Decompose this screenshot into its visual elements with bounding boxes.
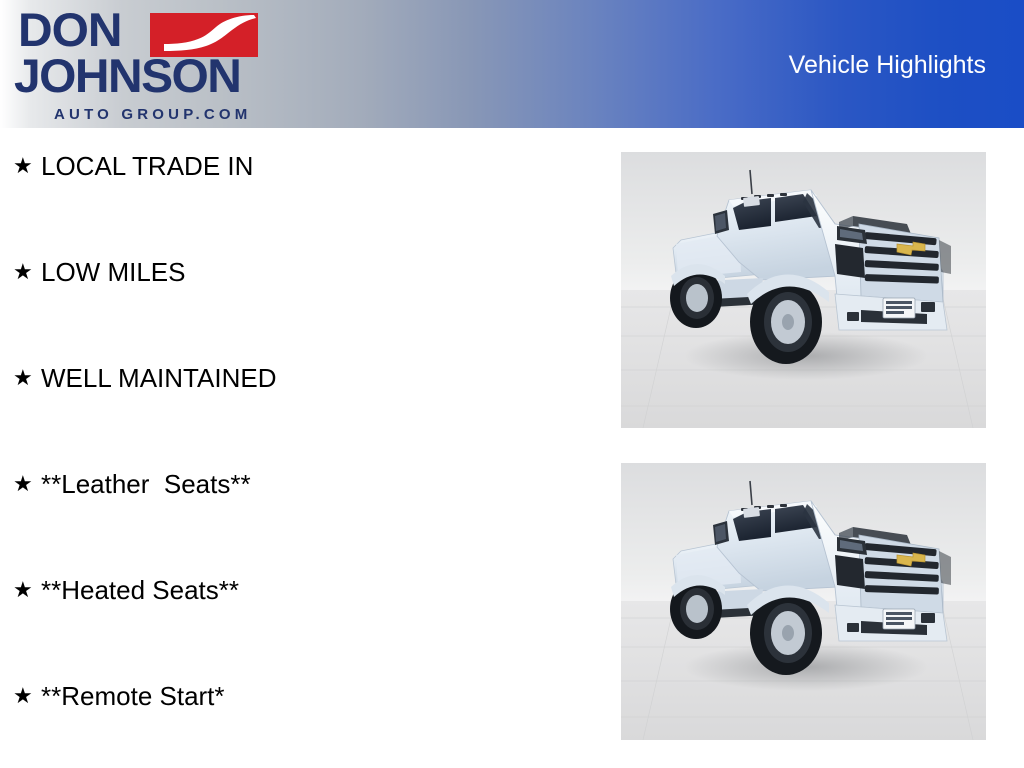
star-bullet-icon: ★ xyxy=(13,362,41,394)
highlight-label: **Heated Seats** xyxy=(41,574,239,606)
dealer-logo[interactable]: DON JOHNSON AUTO GROUP.COM xyxy=(10,4,260,126)
list-item: ★ WELL MAINTAINED xyxy=(0,362,600,468)
star-bullet-icon: ★ xyxy=(13,574,41,606)
star-bullet-icon: ★ xyxy=(13,680,41,712)
logo-line-don: DON xyxy=(18,6,121,53)
star-bullet-icon: ★ xyxy=(13,468,41,500)
highlight-label: **Remote Start* xyxy=(41,680,225,712)
list-item: ★ LOW MILES xyxy=(0,256,600,362)
highlight-label: LOCAL TRADE IN xyxy=(41,150,253,182)
star-bullet-icon: ★ xyxy=(13,150,41,182)
truck-illustration xyxy=(621,152,986,428)
highlight-label: WELL MAINTAINED xyxy=(41,362,276,394)
vehicle-photo-front-three-quarter[interactable] xyxy=(621,152,986,428)
list-item: ★ **Leather Seats** xyxy=(0,468,600,574)
header-banner: DON JOHNSON AUTO GROUP.COM Vehicle Highl… xyxy=(0,0,1024,128)
star-bullet-icon: ★ xyxy=(13,256,41,288)
highlight-label: **Leather Seats** xyxy=(41,468,251,500)
logo-line-johnson: JOHNSON xyxy=(14,52,240,99)
logo-red-badge xyxy=(150,13,258,57)
highlights-list: ★ LOCAL TRADE IN ★ LOW MILES ★ WELL MAIN… xyxy=(0,150,600,768)
list-item: ★ **Remote Start* xyxy=(0,680,600,768)
page-title: Vehicle Highlights xyxy=(789,51,986,79)
vehicle-photo-front-three-quarter-2[interactable] xyxy=(621,463,986,740)
list-item: ★ **Heated Seats** xyxy=(0,574,600,680)
vehicle-highlights-page: DON JOHNSON AUTO GROUP.COM Vehicle Highl… xyxy=(0,0,1024,768)
list-item: ★ LOCAL TRADE IN xyxy=(0,150,600,256)
logo-tagline: AUTO GROUP.COM xyxy=(54,107,251,123)
truck-illustration-2 xyxy=(621,463,986,740)
highlight-label: LOW MILES xyxy=(41,256,185,288)
swoosh-road-icon xyxy=(150,13,258,57)
